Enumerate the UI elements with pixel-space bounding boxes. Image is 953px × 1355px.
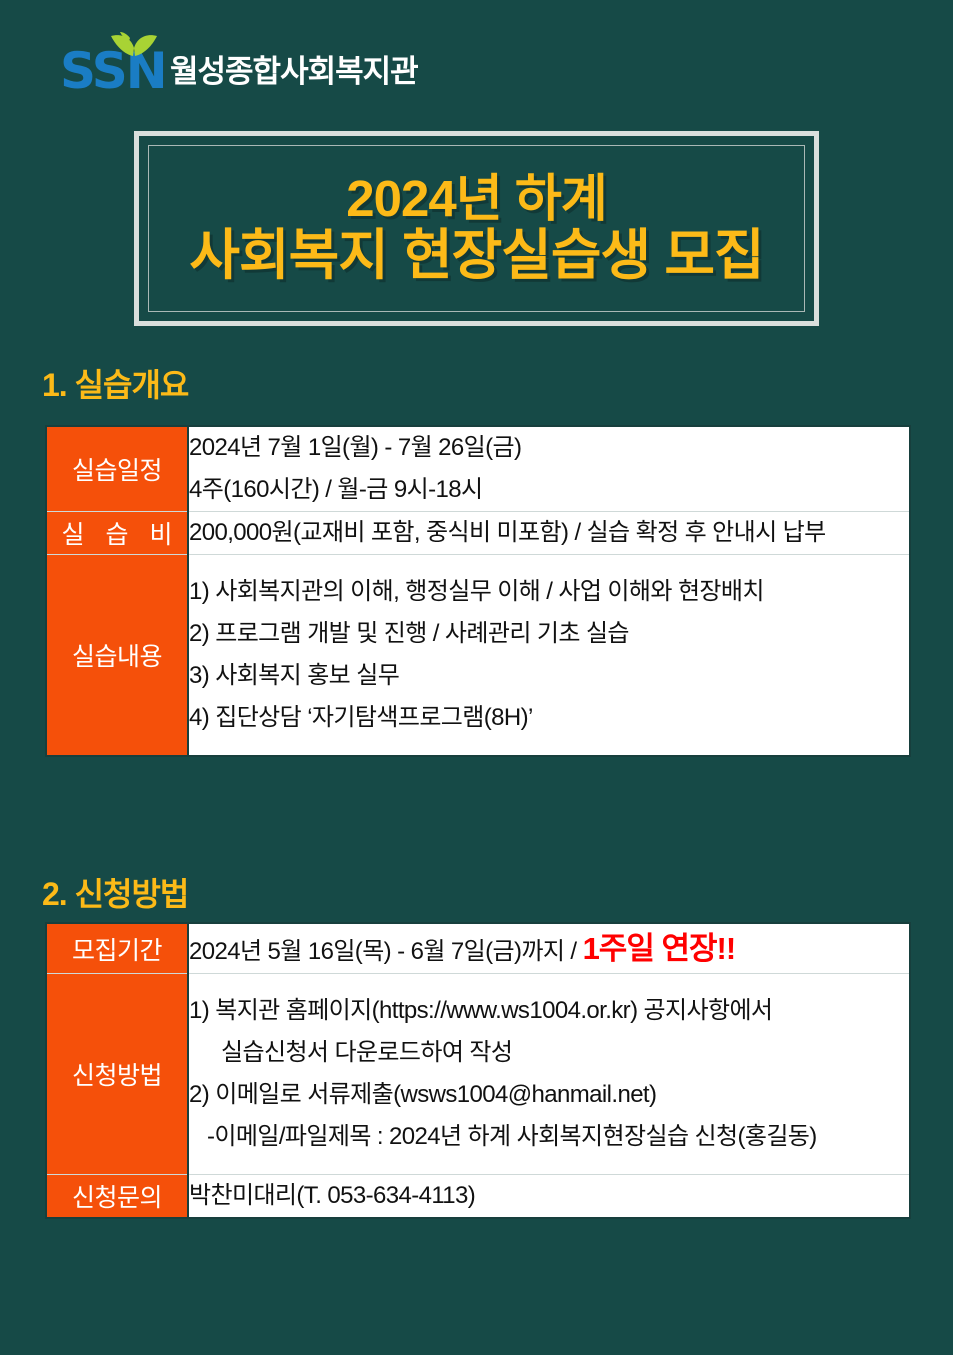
method-line-3: 2) 이메일로 서류제출(wsws1004@hanmail.net) [189, 1074, 909, 1116]
row-value-fee: 200,000원(교재비 포함, 중식비 미포함) / 실습 확정 후 안내시 … [188, 512, 910, 555]
content-line-3: 3) 사회복지 홍보 실무 [189, 655, 909, 697]
organization-name: 월성종합사회복지관 [170, 46, 418, 96]
poster-title-line-2: 사회복지 현장실습생 모집 [189, 226, 763, 285]
method-line-1: 1) 복지관 홈페이지(https://www.ws1004.or.kr) 공지… [189, 990, 909, 1032]
section-heading-apply: 2. 신청방법 [42, 869, 188, 915]
table-row: 실습일정 2024년 7월 1일(월) - 7월 26일(금) 4주(160시간… [46, 426, 910, 512]
leaf-icon [108, 32, 160, 58]
table-row: 실습내용 1) 사회복지관의 이해, 행정실무 이해 / 사업 이해와 현장배치… [46, 555, 910, 757]
title-frame-inner: 2024년 하계 사회복지 현장실습생 모집 [148, 145, 805, 312]
row-label-inquiry: 신청문의 [46, 1175, 188, 1219]
schedule-line-2: 4주(160시간) / 월-금 9시-18시 [189, 469, 909, 511]
content-line-1: 1) 사회복지관의 이해, 행정실무 이해 / 사업 이해와 현장배치 [189, 571, 909, 613]
extension-badge: 1주일 연장!! [583, 931, 736, 966]
row-label-schedule: 실습일정 [46, 426, 188, 512]
poster-title-line-1: 2024년 하계 [346, 171, 606, 226]
schedule-line-1: 2024년 7월 1일(월) - 7월 26일(금) [189, 427, 909, 469]
table-row: 신청방법 1) 복지관 홈페이지(https://www.ws1004.or.k… [46, 974, 910, 1175]
method-line-2: 실습신청서 다운로드하여 작성 [189, 1032, 909, 1074]
period-line: 2024년 5월 16일(목) - 6월 7일(금)까지 / 1주일 연장!! [189, 924, 909, 973]
application-table: 모집기간 2024년 5월 16일(목) - 6월 7일(금)까지 / 1주일 … [45, 922, 911, 1219]
row-value-schedule: 2024년 7월 1일(월) - 7월 26일(금) 4주(160시간) / 월… [188, 426, 910, 512]
overview-table: 실습일정 2024년 7월 1일(월) - 7월 26일(금) 4주(160시간… [45, 425, 911, 757]
inquiry-line: 박찬미대리(T. 053-634-4113) [189, 1175, 909, 1217]
row-value-period: 2024년 5월 16일(목) - 6월 7일(금)까지 / 1주일 연장!! [188, 923, 910, 974]
table-row: 실 습 비 200,000원(교재비 포함, 중식비 미포함) / 실습 확정 … [46, 512, 910, 555]
period-text: 2024년 5월 16일(목) - 6월 7일(금)까지 / [189, 938, 583, 965]
row-label-method: 신청방법 [46, 974, 188, 1175]
content-line-4: 4) 집단상담 ‘자기탐색프로그램(8H)’ [189, 697, 909, 739]
row-value-content: 1) 사회복지관의 이해, 행정실무 이해 / 사업 이해와 현장배치 2) 프… [188, 555, 910, 757]
content-line-2: 2) 프로그램 개발 및 진행 / 사례관리 기초 실습 [189, 613, 909, 655]
table-row: 모집기간 2024년 5월 16일(목) - 6월 7일(금)까지 / 1주일 … [46, 923, 910, 974]
table-row: 신청문의 박찬미대리(T. 053-634-4113) [46, 1175, 910, 1219]
poster-canvas: SSN 월성종합사회복지관 2024년 하계 사회복지 현장실습생 모집 1. … [0, 0, 953, 1355]
row-label-fee: 실 습 비 [46, 512, 188, 555]
fee-line-1: 200,000원(교재비 포함, 중식비 미포함) / 실습 확정 후 안내시 … [189, 512, 909, 554]
row-value-method: 1) 복지관 홈페이지(https://www.ws1004.or.kr) 공지… [188, 974, 910, 1175]
method-line-4: -이메일/파일제목 : 2024년 하계 사회복지현장실습 신청(홍길동) [189, 1116, 909, 1158]
brand-header: SSN 월성종합사회복지관 [60, 34, 418, 96]
title-frame: 2024년 하계 사회복지 현장실습생 모집 [134, 131, 819, 326]
section-heading-overview: 1. 실습개요 [42, 360, 188, 406]
row-value-inquiry: 박찬미대리(T. 053-634-4113) [188, 1175, 910, 1219]
row-label-content: 실습내용 [46, 555, 188, 757]
ssn-logo: SSN [60, 34, 160, 96]
row-label-period: 모집기간 [46, 923, 188, 974]
